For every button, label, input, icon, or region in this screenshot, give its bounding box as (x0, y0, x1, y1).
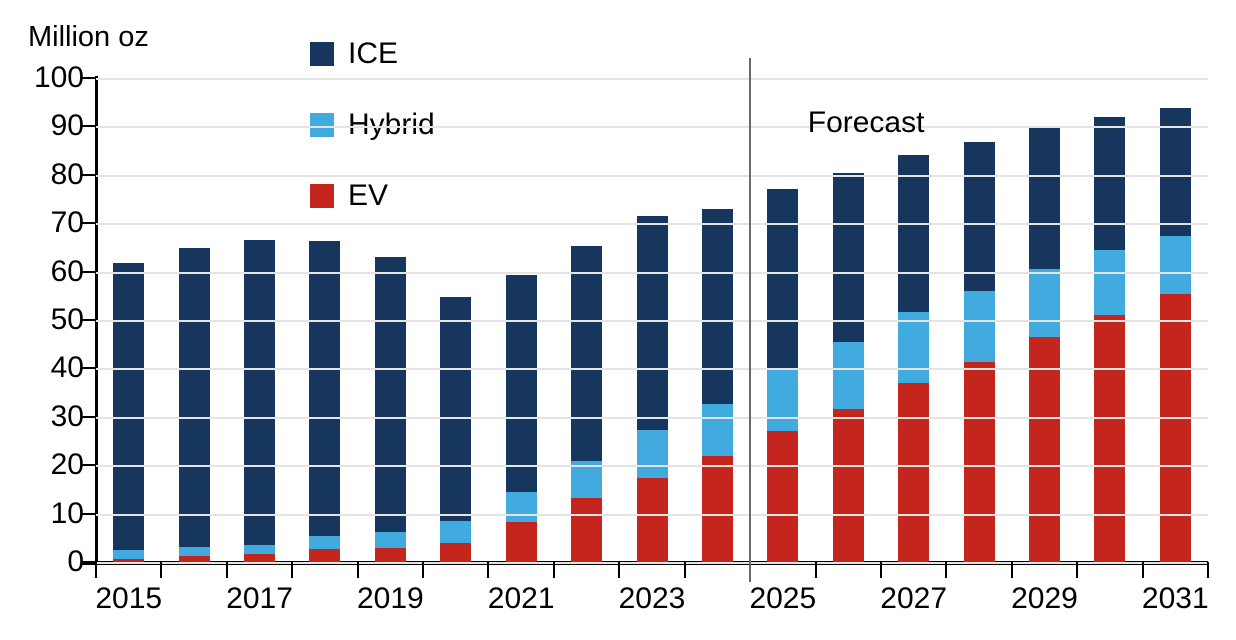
bar-segment-ice-2019[interactable] (375, 257, 406, 532)
y-axis-tick-label: 70 (14, 208, 84, 238)
y-axis-tick (82, 222, 96, 224)
y-axis-tick-label: 60 (14, 257, 84, 287)
bar-segment-ice-2022[interactable] (571, 246, 602, 460)
bar-segment-hybrid-2029[interactable] (1029, 269, 1060, 338)
x-axis-tick (684, 562, 686, 578)
x-axis-label-2029: 2029 (1011, 582, 1078, 616)
y-axis-tick (82, 561, 96, 563)
x-axis-tick (815, 562, 817, 578)
gridline (96, 368, 1208, 370)
bar-segment-ev-2023[interactable] (637, 478, 668, 562)
y-axis-tick-label: 20 (14, 450, 84, 480)
gridline (96, 126, 1208, 128)
x-axis-label-2023: 2023 (619, 582, 686, 616)
bar-segment-hybrid-2018[interactable] (309, 536, 340, 549)
bar-segment-hybrid-2027[interactable] (898, 312, 929, 383)
bar-segment-ice-2020[interactable] (440, 297, 471, 521)
bar-segment-hybrid-2021[interactable] (506, 492, 537, 522)
legend-item-ice: ICE (310, 30, 435, 78)
bar-segment-ice-2026[interactable] (833, 173, 864, 342)
bar-segment-hybrid-2015[interactable] (113, 550, 144, 559)
bar-segment-hybrid-2019[interactable] (375, 532, 406, 548)
bar-segment-ice-2025[interactable] (767, 189, 798, 368)
y-axis-tick (82, 271, 96, 273)
bar-segment-ev-2017[interactable] (244, 554, 275, 562)
bar-segment-ev-2019[interactable] (375, 548, 406, 562)
bar-segment-hybrid-2030[interactable] (1094, 250, 1125, 315)
bar-segment-ev-2018[interactable] (309, 549, 340, 562)
y-axis-tick-label: 50 (14, 305, 84, 335)
bar-segment-ice-2016[interactable] (179, 248, 210, 548)
x-axis-label-2027: 2027 (880, 582, 947, 616)
bar-segment-ev-2026[interactable] (833, 409, 864, 562)
bar-segment-ice-2030[interactable] (1094, 117, 1125, 251)
bar-segment-ev-2021[interactable] (506, 522, 537, 562)
bar-segment-ev-2031[interactable] (1160, 294, 1191, 562)
x-axis-tick (291, 562, 293, 578)
bar-segment-ev-2020[interactable] (440, 543, 471, 562)
x-axis-tick (487, 562, 489, 578)
x-axis-tick (95, 562, 97, 578)
gridline (96, 562, 1208, 564)
bar-segment-ice-2021[interactable] (506, 275, 537, 491)
bar-segment-hybrid-2028[interactable] (964, 291, 995, 362)
bar-segment-ice-2027[interactable] (898, 155, 929, 311)
x-axis-tick (880, 562, 882, 578)
y-axis-tick (82, 367, 96, 369)
x-axis-tick (553, 562, 555, 578)
bar-segment-hybrid-2016[interactable] (179, 547, 210, 556)
bar-segment-ice-2018[interactable] (309, 241, 340, 536)
y-axis-tick (82, 125, 96, 127)
x-axis-label-2025: 2025 (749, 582, 816, 616)
bar-segment-ice-2029[interactable] (1029, 128, 1060, 268)
x-axis-label-2021: 2021 (488, 582, 555, 616)
y-axis-tick (82, 174, 96, 176)
x-axis-tick (357, 562, 359, 578)
y-axis-tick (82, 464, 96, 466)
y-axis-tick-label: 100 (14, 63, 84, 93)
bar-segment-ice-2024[interactable] (702, 209, 733, 405)
forecast-divider-line (749, 58, 751, 582)
bar-segment-hybrid-2025[interactable] (767, 368, 798, 431)
x-axis-tick (1076, 562, 1078, 578)
gridline (96, 417, 1208, 419)
x-axis-tick (945, 562, 947, 578)
bar-segment-ev-2024[interactable] (702, 456, 733, 562)
gridline (96, 272, 1208, 274)
x-axis-label-2015: 2015 (95, 582, 162, 616)
y-axis-tick (82, 513, 96, 515)
bar-segment-ice-2023[interactable] (637, 216, 668, 430)
gridline (96, 78, 1208, 80)
y-axis-tick-label: 30 (14, 402, 84, 432)
y-axis-unit-label: Million oz (28, 20, 149, 54)
legend-label-ice: ICE (348, 39, 398, 69)
forecast-label: Forecast (808, 108, 925, 138)
gridline (96, 514, 1208, 516)
gridline (96, 175, 1208, 177)
legend-swatch-ice (310, 42, 334, 66)
bar-segment-hybrid-2026[interactable] (833, 342, 864, 409)
y-axis-tick-label: 90 (14, 111, 84, 141)
x-axis-label-2019: 2019 (357, 582, 424, 616)
y-axis-tick (82, 77, 96, 79)
bar-segment-ev-2030[interactable] (1094, 315, 1125, 562)
y-axis-tick (82, 319, 96, 321)
y-axis-tick-label: 40 (14, 353, 84, 383)
x-axis-tick (618, 562, 620, 578)
x-axis-label-2031: 2031 (1142, 582, 1209, 616)
bar-segment-ice-2015[interactable] (113, 263, 144, 550)
gridline (96, 223, 1208, 225)
bar-segment-ice-2028[interactable] (964, 142, 995, 291)
bar-segment-hybrid-2017[interactable] (244, 545, 275, 554)
y-axis-tick (82, 416, 96, 418)
gridline (96, 320, 1208, 322)
bar-segment-ev-2029[interactable] (1029, 337, 1060, 562)
x-axis-tick (1011, 562, 1013, 578)
gridline (96, 465, 1208, 467)
bar-segment-hybrid-2020[interactable] (440, 521, 471, 543)
bar-segment-hybrid-2023[interactable] (637, 430, 668, 477)
y-axis-tick-label: 0 (14, 547, 84, 577)
bar-segment-ev-2025[interactable] (767, 431, 798, 562)
bar-segment-hybrid-2031[interactable] (1160, 236, 1191, 294)
x-axis-tick (1207, 562, 1209, 578)
y-axis-tick-label: 80 (14, 160, 84, 190)
bar-segment-ev-2027[interactable] (898, 383, 929, 562)
stacked-bar-chart: Million oz ICE Hybrid EV 010203040506070… (0, 0, 1236, 640)
x-axis-tick (160, 562, 162, 578)
bar-segment-ice-2017[interactable] (244, 240, 275, 545)
x-axis-tick (226, 562, 228, 578)
bar-segment-hybrid-2024[interactable] (702, 404, 733, 455)
x-axis-tick (422, 562, 424, 578)
x-axis-tick (1142, 562, 1144, 578)
bar-segment-ev-2028[interactable] (964, 362, 995, 562)
y-axis-tick-label: 10 (14, 499, 84, 529)
plot-area (96, 78, 1208, 562)
bar-segment-ev-2022[interactable] (571, 498, 602, 562)
x-axis-label-2017: 2017 (226, 582, 293, 616)
